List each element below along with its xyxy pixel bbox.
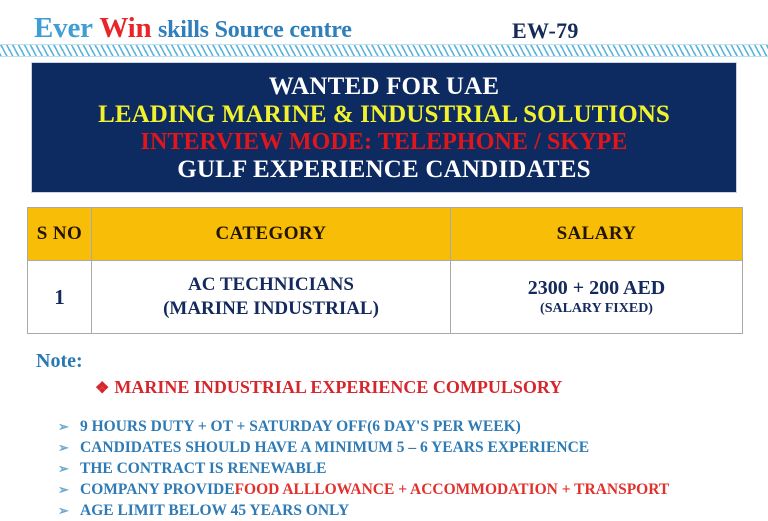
arrow-bullet-icon: ➢ <box>58 462 80 475</box>
note-highlight-text: MARINE INDUSTRIAL EXPERIENCE COMPULSORY <box>114 377 562 397</box>
condition-text: 9 HOURS DUTY + OT + SATURDAY OFF(6 DAY'S… <box>80 419 521 435</box>
reference-code: EW-79 <box>512 18 579 44</box>
condition-accent-text: FOOD ALLLOWANCE + ACCOMMODATION + TRANSP… <box>235 482 670 498</box>
vacancy-table: S NO CATEGORY SALARY 1 AC TECHNICIANS (M… <box>27 207 743 334</box>
note-highlight: ❖MARINE INDUSTRIAL EXPERIENCE COMPULSORY <box>95 377 562 398</box>
category-title: AC TECHNICIANS <box>94 273 448 297</box>
cell-sno: 1 <box>28 261 92 334</box>
condition-text: CANDIDATES SHOULD HAVE A MINIMUM 5 – 6 Y… <box>80 440 589 456</box>
diamond-bullet-icon: ❖ <box>95 380 109 397</box>
banner-line-company: LEADING MARINE & INDUSTRIAL SOLUTIONS <box>98 101 670 129</box>
arrow-bullet-icon: ➢ <box>58 420 80 433</box>
company-logo-text: Ever Win skills Source centre <box>34 12 352 45</box>
banner-line-interview-mode: INTERVIEW MODE: TELEPHONE / SKYPE <box>141 129 628 156</box>
arrow-bullet-icon: ➢ <box>58 483 80 496</box>
banner-line-experience: GULF EXPERIENCE CANDIDATES <box>177 156 591 184</box>
salary-amount: 2300 + 200 AED <box>453 276 740 300</box>
table-row: 1 AC TECHNICIANS (MARINE INDUSTRIAL) 230… <box>28 261 743 334</box>
brand-word-ever: Ever <box>34 12 93 44</box>
salary-note: (SALARY FIXED) <box>453 300 740 318</box>
page-header: Ever Win skills Source centre EW-79 <box>0 0 768 47</box>
decorative-hatch-divider <box>0 44 768 57</box>
category-subtitle: (MARINE INDUSTRIAL) <box>94 297 448 321</box>
cell-salary: 2300 + 200 AED (SALARY FIXED) <box>451 261 743 334</box>
list-item: ➢ THE CONTRACT IS RENEWABLE <box>58 458 748 479</box>
brand-word-win: Win <box>99 12 151 44</box>
list-item: ➢ CANDIDATES SHOULD HAVE A MINIMUM 5 – 6… <box>58 437 748 458</box>
note-label: Note: <box>36 350 83 373</box>
banner-line-wanted: WANTED FOR UAE <box>269 73 500 101</box>
brand-tagline: skills Source centre <box>158 17 352 43</box>
arrow-bullet-icon: ➢ <box>58 441 80 454</box>
table-header-row: S NO CATEGORY SALARY <box>28 208 743 261</box>
column-header-category: CATEGORY <box>92 208 451 261</box>
column-header-salary: SALARY <box>451 208 743 261</box>
column-header-sno: S NO <box>28 208 92 261</box>
condition-text: COMPANY PROVIDE <box>80 482 235 498</box>
announcement-banner: WANTED FOR UAE LEADING MARINE & INDUSTRI… <box>31 62 737 193</box>
condition-text: THE CONTRACT IS RENEWABLE <box>80 461 327 477</box>
arrow-bullet-icon: ➢ <box>58 504 80 517</box>
cell-category: AC TECHNICIANS (MARINE INDUSTRIAL) <box>92 261 451 334</box>
list-item: ➢ AGE LIMIT BELOW 45 YEARS ONLY <box>58 500 748 521</box>
list-item: ➢ COMPANY PROVIDE FOOD ALLLOWANCE + ACCO… <box>58 479 748 500</box>
list-item: ➢ 9 HOURS DUTY + OT + SATURDAY OFF(6 DAY… <box>58 416 748 437</box>
condition-text: AGE LIMIT BELOW 45 YEARS ONLY <box>80 503 349 519</box>
conditions-list: ➢ 9 HOURS DUTY + OT + SATURDAY OFF(6 DAY… <box>58 416 748 521</box>
